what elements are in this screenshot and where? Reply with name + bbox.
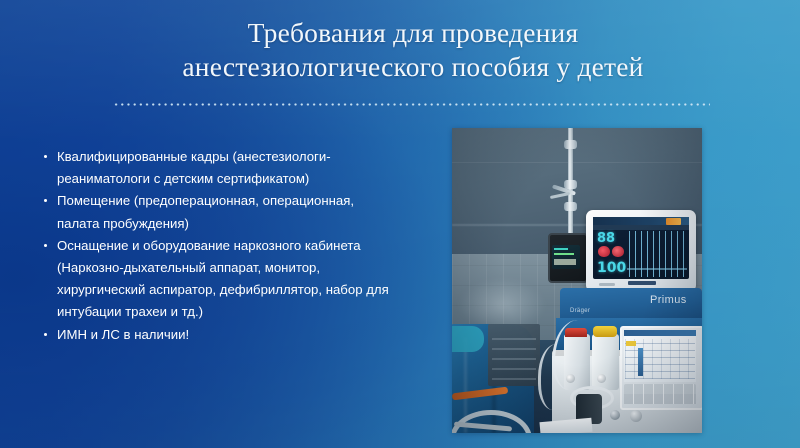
title-line-1: Требования для проведения (110, 16, 716, 50)
list-item: Оснащение и оборудование наркозного каби… (40, 235, 432, 324)
dotted-divider (113, 103, 710, 106)
bullet-dot-icon (44, 155, 47, 158)
title-line-2: анестезиологического пособия у детей (110, 50, 716, 84)
anesthesia-equipment-photo: 88 100 Primus Dräger Dräger (452, 128, 702, 433)
bullet-text: Помещение (предоперационная, операционна… (57, 190, 432, 234)
bullet-text: ИМН и ЛС в наличии! (57, 324, 432, 346)
page-title: Требования для проведения анестезиологич… (110, 16, 716, 84)
list-item: Помещение (предоперационная, операционна… (40, 190, 432, 234)
list-item: ИМН и ЛС в наличии! (40, 324, 432, 346)
list-item: Квалифицированные кадры (анестезиологи- … (40, 146, 432, 190)
bullet-dot-icon (44, 333, 47, 336)
slide-canvas: Требования для проведения анестезиологич… (0, 0, 800, 448)
bullet-text: Оснащение и оборудование наркозного каби… (57, 235, 432, 324)
bullet-list: Квалифицированные кадры (анестезиологи- … (40, 146, 432, 346)
bullet-text: Квалифицированные кадры (анестезиологи- … (57, 146, 432, 190)
bullet-dot-icon (44, 244, 47, 247)
bullet-dot-icon (44, 199, 47, 202)
photo-vignette (452, 128, 702, 433)
